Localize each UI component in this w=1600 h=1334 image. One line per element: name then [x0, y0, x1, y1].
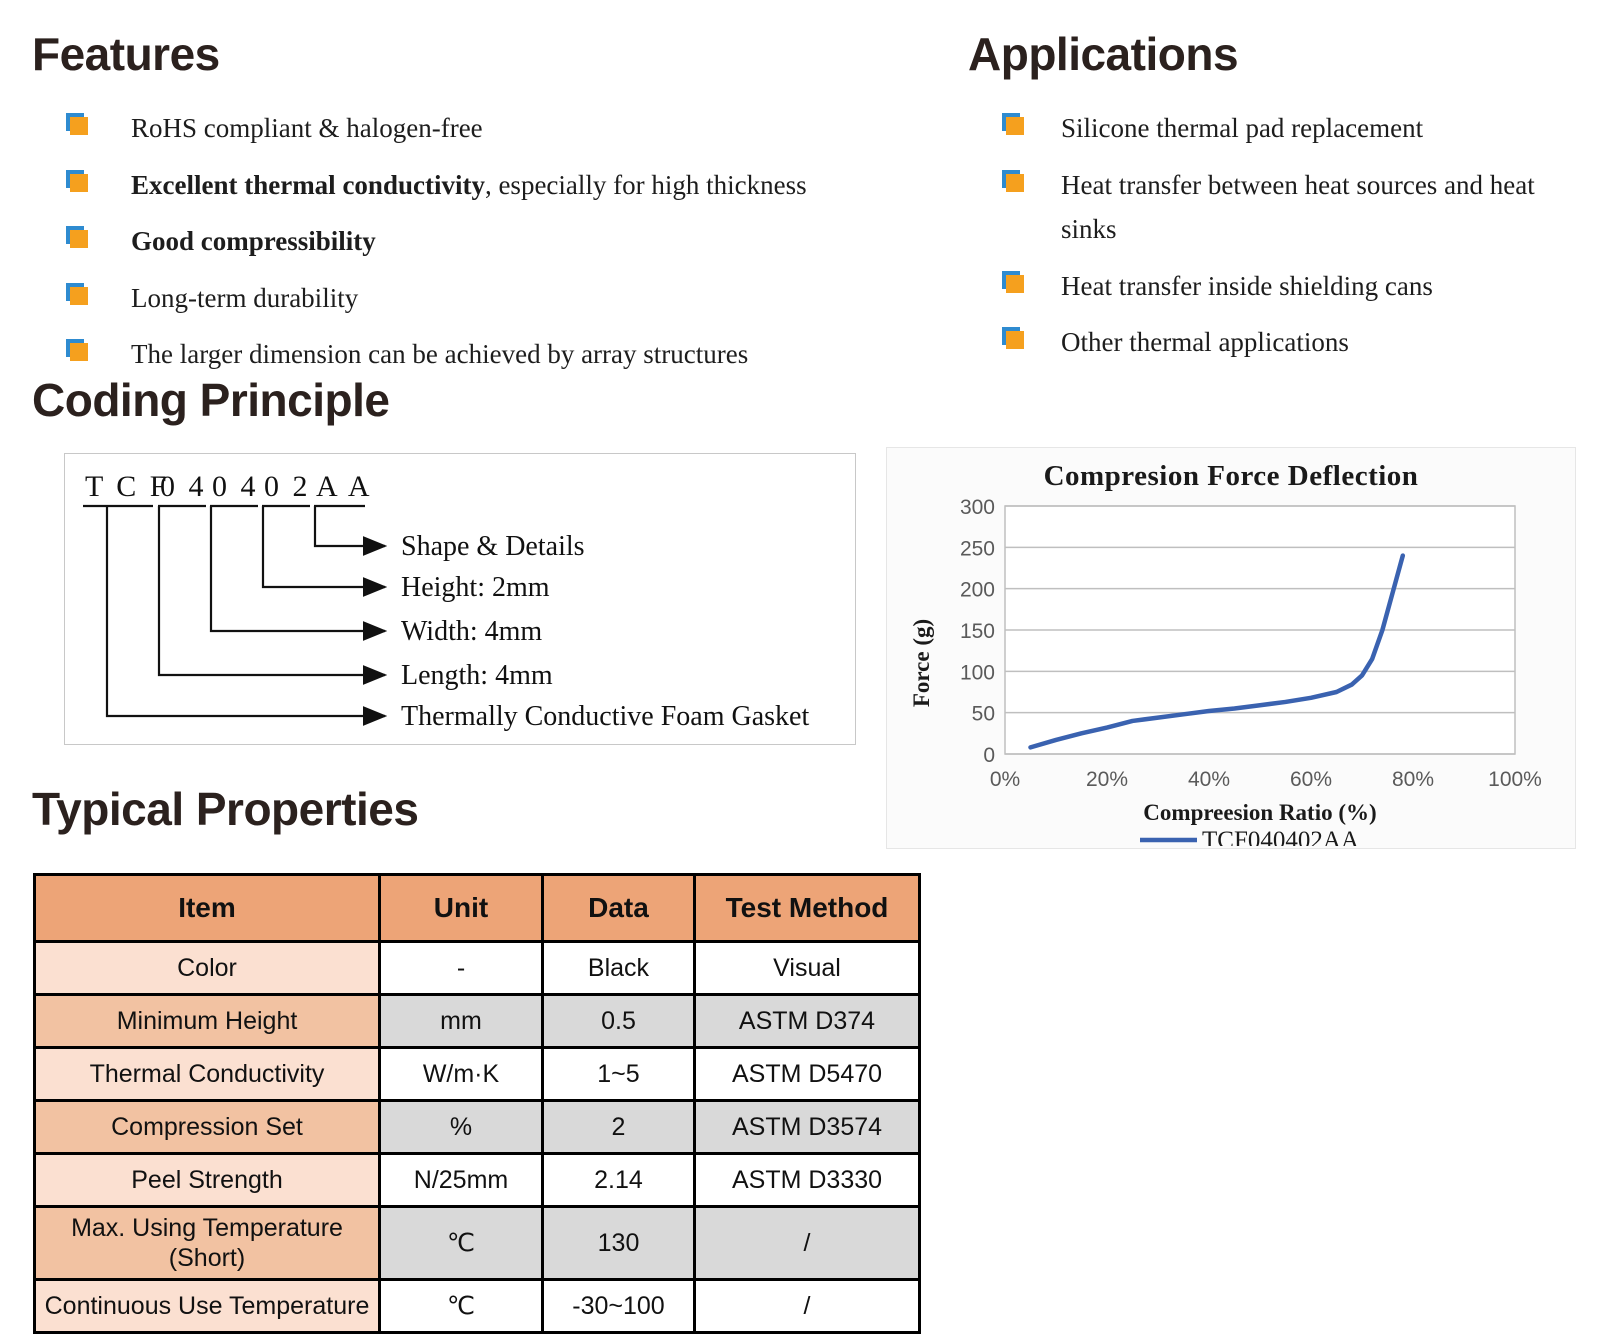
cell-test-method: ASTM D5470: [695, 1048, 920, 1101]
square-bullet-icon: [1002, 113, 1024, 135]
cell-item: Color: [35, 942, 380, 995]
column-header-item: Item: [35, 875, 380, 942]
applications-heading: Applications: [968, 27, 1238, 81]
square-bullet-icon: [66, 113, 88, 135]
features-list: RoHS compliant & halogen-free Excellent …: [66, 106, 946, 389]
y-tick-label: 150: [960, 620, 995, 643]
cell-test-method: ASTM D3330: [695, 1154, 920, 1207]
application-text: Silicone thermal pad replacement: [1061, 106, 1423, 151]
table-row: Color-BlackVisual: [35, 942, 920, 995]
cell-unit: ℃: [380, 1207, 543, 1280]
list-item: Heat transfer inside shielding cans: [1002, 264, 1562, 309]
list-item: RoHS compliant & halogen-free: [66, 106, 946, 151]
feature-text: RoHS compliant & halogen-free: [131, 106, 483, 151]
y-tick-labels: 050100150200250300: [960, 496, 995, 767]
square-bullet-icon: [66, 226, 88, 248]
typical-properties-table: Item Unit Data Test Method Color-BlackVi…: [33, 873, 921, 1334]
column-header-data: Data: [543, 875, 695, 942]
x-tick-label: 80%: [1392, 768, 1434, 791]
applications-list: Silicone thermal pad replacement Heat tr…: [1002, 106, 1562, 377]
x-tick-label: 40%: [1188, 768, 1230, 791]
feature-text: Excellent thermal conductivity, especial…: [131, 163, 807, 208]
cell-item: Continuous Use Temperature: [35, 1280, 380, 1333]
y-tick-label: 250: [960, 537, 995, 560]
cell-data: -30~100: [543, 1280, 695, 1333]
cell-item: Compression Set: [35, 1101, 380, 1154]
y-tick-label: 50: [972, 703, 995, 726]
coding-label-length: Length: 4mm: [401, 660, 553, 691]
list-item: Excellent thermal conductivity, especial…: [66, 163, 946, 208]
coding-label-width: Width: 4mm: [401, 616, 542, 647]
y-axis-title: Force (g): [909, 619, 934, 707]
feature-text: The larger dimension can be achieved by …: [131, 332, 748, 377]
cell-data: 0.5: [543, 995, 695, 1048]
cell-data: 2: [543, 1101, 695, 1154]
application-text: Other thermal applications: [1061, 320, 1349, 365]
compression-force-deflection-chart: Compresion Force Deflection 050100150200…: [886, 447, 1576, 849]
list-item: Good compressibility: [66, 219, 946, 264]
typical-properties-heading: Typical Properties: [32, 782, 418, 836]
y-tick-label: 200: [960, 579, 995, 602]
cell-data: 2.14: [543, 1154, 695, 1207]
square-bullet-icon: [66, 339, 88, 361]
cell-test-method: /: [695, 1207, 920, 1280]
cell-unit: W/m·K: [380, 1048, 543, 1101]
feature-plain: Long-term durability: [131, 283, 358, 313]
features-heading: Features: [32, 27, 220, 81]
table-row: Peel StrengthN/25mm2.14ASTM D3330: [35, 1154, 920, 1207]
cell-unit: ℃: [380, 1280, 543, 1333]
code-segment-width: 0 4: [212, 470, 259, 503]
table-row: Thermal ConductivityW/m·K1~5ASTM D5470: [35, 1048, 920, 1101]
x-tick-label: 60%: [1290, 768, 1332, 791]
x-tick-labels: 0%20%40%60%80%100%: [990, 768, 1542, 791]
square-bullet-icon: [66, 170, 88, 192]
table-header-row: Item Unit Data Test Method: [35, 875, 920, 942]
cell-item: Minimum Height: [35, 995, 380, 1048]
y-tick-label: 0: [983, 744, 995, 767]
x-tick-label: 0%: [990, 768, 1020, 791]
square-bullet-icon: [1002, 327, 1024, 349]
column-header-test-method: Test Method: [695, 875, 920, 942]
application-text: Heat transfer between heat sources and h…: [1061, 163, 1562, 252]
feature-plain: , especially for high thickness: [485, 170, 807, 200]
cell-item: Max. Using Temperature (Short): [35, 1207, 380, 1280]
table-body: Color-BlackVisualMinimum Heightmm0.5ASTM…: [35, 942, 920, 1333]
list-item: Other thermal applications: [1002, 320, 1562, 365]
cell-unit: %: [380, 1101, 543, 1154]
table-row: Continuous Use Temperature℃-30~100/: [35, 1280, 920, 1333]
x-axis-title: Compreesion Ratio (%): [1143, 800, 1376, 825]
cell-test-method: ASTM D3574: [695, 1101, 920, 1154]
cell-item: Thermal Conductivity: [35, 1048, 380, 1101]
list-item: Heat transfer between heat sources and h…: [1002, 163, 1562, 252]
feature-bold: Good compressibility: [131, 226, 376, 256]
code-segment-tcf: T C F: [85, 470, 169, 503]
square-bullet-icon: [1002, 271, 1024, 293]
square-bullet-icon: [66, 283, 88, 305]
square-bullet-icon: [1002, 170, 1024, 192]
cell-data: 1~5: [543, 1048, 695, 1101]
cell-unit: -: [380, 942, 543, 995]
table-row: Compression Set%2ASTM D3574: [35, 1101, 920, 1154]
table-row: Minimum Heightmm0.5ASTM D374: [35, 995, 920, 1048]
list-item: Long-term durability: [66, 276, 946, 321]
cell-unit: N/25mm: [380, 1154, 543, 1207]
coding-label-shape: Shape & Details: [401, 531, 585, 562]
feature-bold: Excellent thermal conductivity: [131, 170, 485, 200]
cell-unit: mm: [380, 995, 543, 1048]
feature-plain: The larger dimension can be achieved by …: [131, 339, 748, 369]
x-tick-label: 20%: [1086, 768, 1128, 791]
coding-principle-heading: Coding Principle: [32, 373, 389, 427]
list-item: Silicone thermal pad replacement: [1002, 106, 1562, 151]
code-segment-length: 0 4: [160, 470, 207, 503]
cell-test-method: Visual: [695, 942, 920, 995]
application-text: Heat transfer inside shielding cans: [1061, 264, 1433, 309]
y-tick-label: 100: [960, 661, 995, 684]
feature-text: Good compressibility: [131, 219, 376, 264]
feature-text: Long-term durability: [131, 276, 358, 321]
x-tick-label: 100%: [1488, 768, 1542, 791]
code-segment-height: 0 2: [264, 470, 311, 503]
cell-test-method: ASTM D374: [695, 995, 920, 1048]
legend-label: TCF040402AA: [1202, 827, 1359, 846]
list-item: The larger dimension can be achieved by …: [66, 332, 946, 377]
y-tick-label: 300: [960, 496, 995, 519]
column-header-unit: Unit: [380, 875, 543, 942]
feature-plain: RoHS compliant & halogen-free: [131, 113, 483, 143]
table-row: Max. Using Temperature (Short)℃130/: [35, 1207, 920, 1280]
code-segment-shape: A A: [316, 470, 373, 503]
coding-principle-diagram: T C F 0 4 0 4 0 2 A A Shape & Details: [64, 453, 856, 745]
coding-label-height: Height: 2mm: [401, 572, 550, 603]
cell-data: 130: [543, 1207, 695, 1280]
coding-label-product: Thermally Conductive Foam Gasket: [401, 701, 809, 732]
cell-item: Peel Strength: [35, 1154, 380, 1207]
cell-data: Black: [543, 942, 695, 995]
cell-test-method: /: [695, 1280, 920, 1333]
